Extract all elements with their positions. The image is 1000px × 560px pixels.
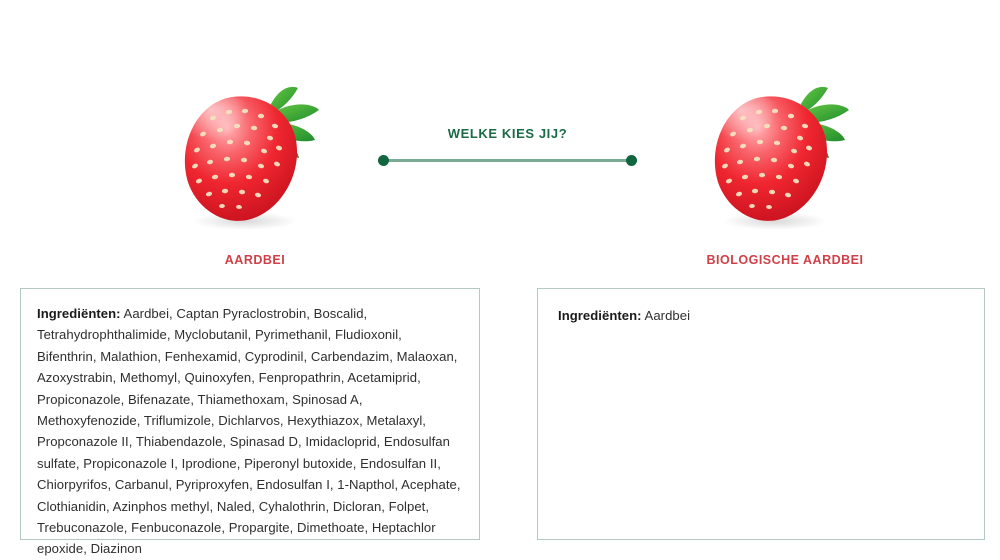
connector-dot-right-icon [626,155,637,166]
ingredients-text-organic: Ingrediënten: Aardbei [558,305,970,326]
product-caption-conventional: AARDBEI [160,253,350,267]
page-title: WELKE KIES JIJ? [378,126,637,141]
ingredients-text-conventional: Ingrediënten: Aardbei, Captan Pyraclostr… [37,303,465,560]
product-image-conventional [165,78,340,233]
comparison-connector [378,155,637,166]
ingredients-panel-organic: Ingrediënten: Aardbei [537,288,985,540]
ingredients-label: Ingrediënten: [558,308,642,323]
ingredients-panel-conventional: Ingrediënten: Aardbei, Captan Pyraclostr… [20,288,480,540]
product-caption-organic: BIOLOGISCHE AARDBEI [660,253,910,267]
strawberry-icon [165,78,340,233]
product-image-organic [695,78,870,233]
poster-canvas: WELKE KIES JIJ? [0,0,1000,560]
connector-line [383,159,632,162]
connector-dot-left-icon [378,155,389,166]
ingredients-value: Aardbei, Captan Pyraclostrobin, Boscalid… [37,306,461,556]
ingredients-value: Aardbei [642,308,690,323]
ingredients-label: Ingrediënten: [37,306,121,321]
strawberry-icon [695,78,870,233]
